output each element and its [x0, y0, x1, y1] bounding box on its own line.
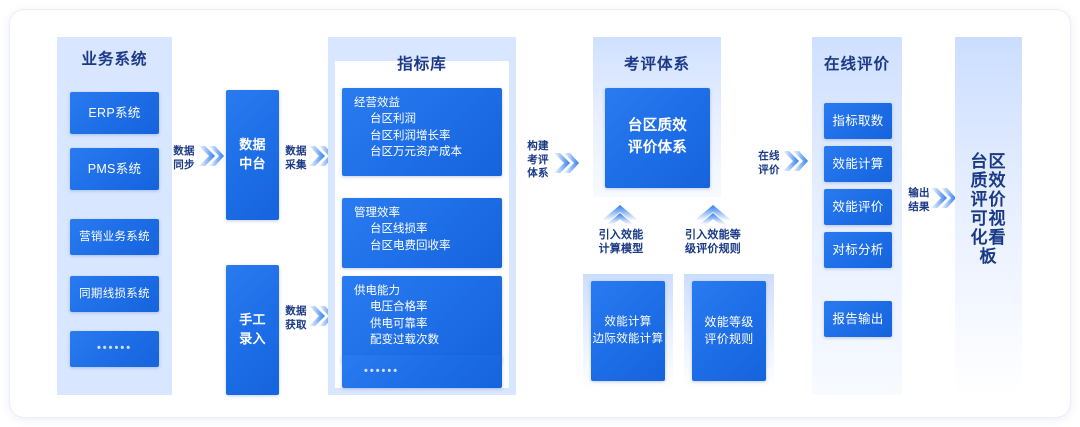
- box-efficiency-calculation[interactable]: 效能计算 边际效能计算: [591, 281, 665, 381]
- dashboard-text-line: 评价: [955, 190, 1022, 209]
- flow-label-data-sync: 数据 同步: [168, 145, 200, 172]
- diagram-canvas: 业务系统 ERP系统 PMS系统 营销业务系统 同期线损系统 •••••• 数据…: [0, 0, 1080, 427]
- box-efficiency-calc[interactable]: 效能计算: [824, 146, 892, 182]
- flow-label-online-eval: 在线 评价: [753, 150, 785, 177]
- group-business-benefit[interactable]: 经营效益 台区利润 台区利润增长率 台区万元资产成本: [342, 88, 502, 176]
- box-benchmark-analysis[interactable]: 对标分析: [824, 232, 892, 268]
- title-indicator-library: 指标库: [328, 52, 516, 74]
- box-quality-eval-system[interactable]: 台区质效 评价体系: [605, 88, 710, 188]
- box-marketing-system[interactable]: 营销业务系统: [70, 219, 159, 255]
- dashboard-text-line: 质效: [955, 171, 1022, 190]
- group-item: 供电可靠率: [354, 316, 492, 332]
- group-power-supply-capacity[interactable]: 供电能力 电压合格率 供电可靠率 配变过载次数: [342, 276, 502, 364]
- arrow-up-efficiency-model: [600, 203, 640, 225]
- arrow-up-efficiency-grade-rule: [693, 203, 733, 225]
- flow-label-efficiency-grade-rule: 引入效能等 级评价规则: [677, 228, 749, 257]
- box-erp-system[interactable]: ERP系统: [70, 92, 159, 134]
- box-report-output[interactable]: 报告输出: [824, 301, 892, 337]
- group-item: 台区电费回收率: [354, 238, 492, 254]
- box-manual-entry[interactable]: 手工 录入: [226, 265, 279, 395]
- ellipsis-dots: ••••••: [364, 364, 399, 380]
- dashboard-text-line: 台区: [955, 152, 1022, 171]
- box-efficiency-eval[interactable]: 效能评价: [824, 189, 892, 225]
- arrow-build-eval: [553, 150, 579, 176]
- group-management-efficiency[interactable]: 管理效率 台区线损率 台区电费回收率: [342, 198, 502, 268]
- group-head: 管理效率: [354, 205, 492, 221]
- dashboard-text-line: 板: [955, 247, 1022, 266]
- group-item: 台区利润增长率: [354, 128, 492, 144]
- box-indicator-more[interactable]: ••••••: [342, 355, 502, 388]
- group-head: 经营效益: [354, 95, 492, 111]
- arrow-output-result: [930, 185, 956, 211]
- title-online-evaluation: 在线评价: [812, 52, 902, 74]
- arrow-data-sync: [198, 143, 224, 169]
- title-evaluation-system: 考评体系: [593, 52, 721, 74]
- box-business-more[interactable]: ••••••: [70, 331, 159, 367]
- group-item: 台区万元资产成本: [354, 144, 492, 160]
- dashboard-vertical-text: 台区 质效 评价 可视 化看 板: [955, 152, 1022, 266]
- title-business-systems: 业务系统: [57, 47, 172, 69]
- flow-label-build-eval: 构建 考评 体系: [522, 140, 554, 181]
- group-head: 供电能力: [354, 283, 492, 299]
- box-efficiency-grade-rule[interactable]: 效能等级 评价规则: [692, 281, 766, 381]
- group-item: 配变过载次数: [354, 332, 492, 348]
- box-pms-system[interactable]: PMS系统: [70, 148, 159, 190]
- group-item: 台区利润: [354, 111, 492, 127]
- group-item: 台区线损率: [354, 221, 492, 237]
- arrow-online-eval: [782, 148, 808, 174]
- dashboard-text-line: 化看: [955, 228, 1022, 247]
- ellipsis-dots: ••••••: [97, 341, 132, 357]
- box-line-loss-system[interactable]: 同期线损系统: [70, 276, 159, 312]
- flow-label-efficiency-model: 引入效能 计算模型: [585, 228, 657, 257]
- box-indicator-fetch[interactable]: 指标取数: [824, 103, 892, 139]
- group-item: 电压合格率: [354, 299, 492, 315]
- dashboard-text-line: 可视: [955, 209, 1022, 228]
- box-data-platform[interactable]: 数据 中台: [226, 90, 279, 220]
